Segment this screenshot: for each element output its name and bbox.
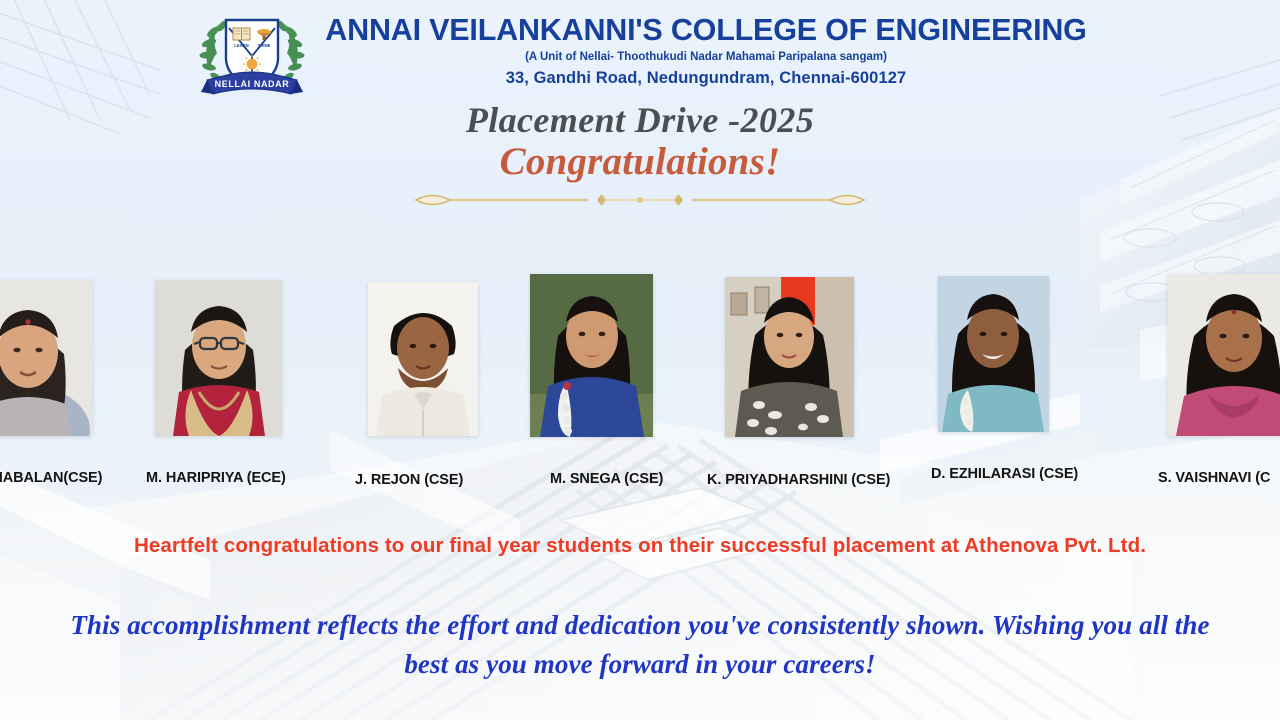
student-name-7: S. VAISHNAVI (C bbox=[1158, 470, 1270, 486]
ornamental-divider-icon bbox=[0, 189, 1280, 213]
student-name-5: K. PRIYADHARSHINI (CSE) bbox=[707, 472, 890, 488]
student-photo-7 bbox=[1168, 274, 1280, 436]
students-strip: ANABALAN(CSE) bbox=[0, 272, 1280, 497]
placement-message-blue: This accomplishment reflects the effort … bbox=[0, 606, 1280, 684]
college-address: 33, Gandhi Road, Nedungundram, Chennai-6… bbox=[325, 69, 1086, 88]
student-card-1[interactable]: ANABALAN(CSE) bbox=[0, 280, 92, 436]
placement-drive-title: Placement Drive -2025 bbox=[0, 102, 1280, 138]
student-name-2: M. HARIPRIYA (ECE) bbox=[146, 470, 286, 486]
student-card-7[interactable]: S. VAISHNAVI (C bbox=[1168, 274, 1280, 436]
congratulations-title: Congratulations! bbox=[0, 142, 1280, 183]
student-photo-4 bbox=[530, 274, 653, 437]
college-unit-line: (A Unit of Nellai- Thoothukudi Nadar Mah… bbox=[325, 51, 1086, 63]
student-name-6: D. EZHILARASI (CSE) bbox=[931, 466, 1078, 482]
student-photo-2 bbox=[155, 280, 282, 436]
college-name: ANNAI VEILANKANNI'S COLLEGE OF ENGINEERI… bbox=[325, 14, 1086, 46]
poster-header: LEARN SHINE SERVE bbox=[0, 6, 1280, 102]
header-text-block: ANNAI VEILANKANNI'S COLLEGE OF ENGINEERI… bbox=[325, 6, 1086, 88]
student-photo-6 bbox=[938, 276, 1049, 432]
svg-text:COLLEGE: COLLEGE bbox=[240, 90, 265, 94]
student-photo-3 bbox=[368, 282, 478, 436]
student-card-4[interactable]: M. SNEGA (CSE) bbox=[530, 274, 653, 437]
placement-message-blue-line1: This accomplishment reflects the effort … bbox=[70, 610, 1209, 640]
svg-text:SHINE: SHINE bbox=[258, 43, 271, 48]
student-card-5[interactable]: K. PRIYADHARSHINI (CSE) bbox=[725, 277, 854, 437]
placement-message-blue-line2: best as you move forward in your careers… bbox=[0, 645, 1280, 684]
student-name-1: ANABALAN(CSE) bbox=[0, 470, 102, 486]
student-name-4: M. SNEGA (CSE) bbox=[550, 471, 663, 487]
student-photo-1 bbox=[0, 280, 92, 436]
svg-text:LEARN: LEARN bbox=[235, 43, 249, 48]
student-card-2[interactable]: M. HARIPRIYA (ECE) bbox=[155, 280, 282, 436]
college-crest-logo-icon: LEARN SHINE SERVE bbox=[193, 6, 311, 102]
svg-text:NELLAI NADAR: NELLAI NADAR bbox=[215, 79, 290, 89]
student-card-3[interactable]: J. REJON (CSE) bbox=[368, 282, 478, 436]
placement-poster: LEARN SHINE SERVE bbox=[0, 0, 1280, 720]
student-card-6[interactable]: D. EZHILARASI (CSE) bbox=[938, 276, 1049, 432]
title-block: Placement Drive -2025 Congratulations! bbox=[0, 102, 1280, 213]
placement-message-red: Heartfelt congratulations to our final y… bbox=[0, 534, 1280, 558]
student-photo-5 bbox=[725, 277, 854, 437]
student-name-3: J. REJON (CSE) bbox=[355, 472, 463, 488]
